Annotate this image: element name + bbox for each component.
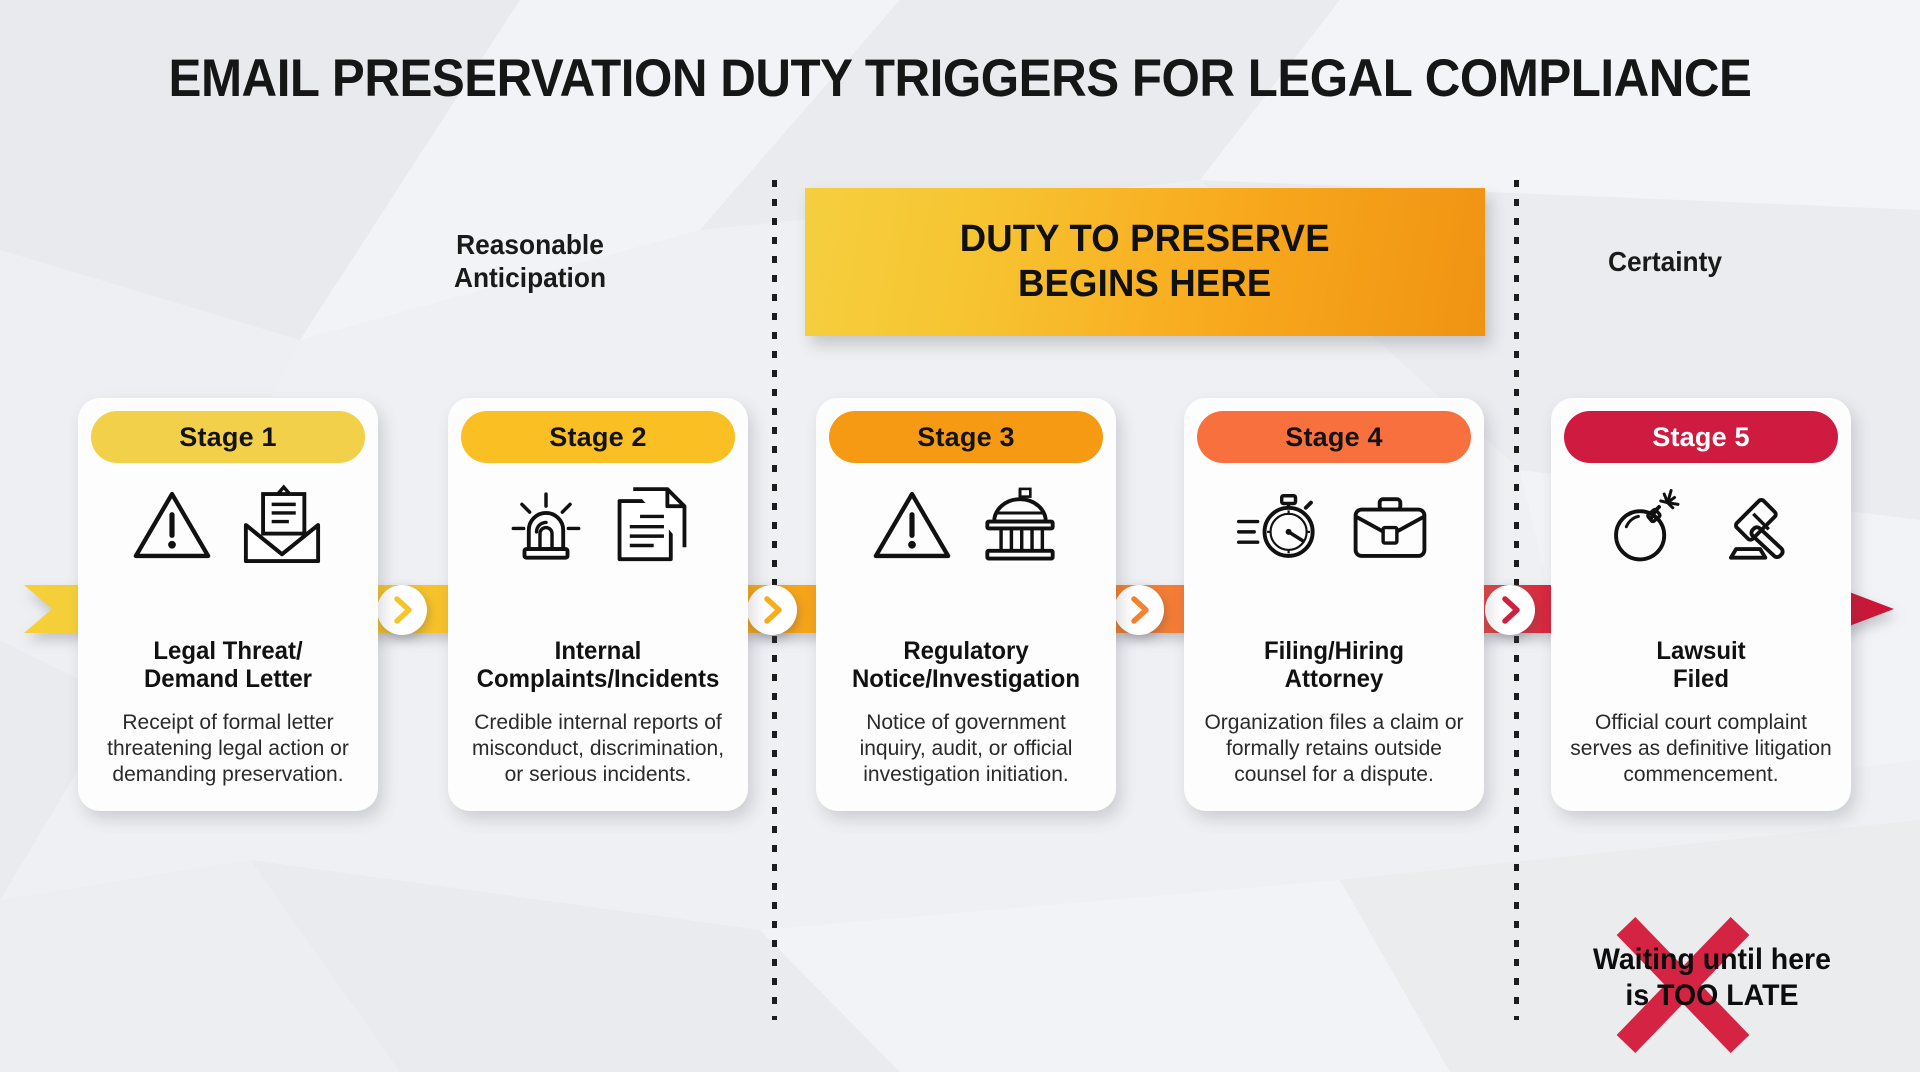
stage-title-4-line1: Filing/Hiring [1202, 637, 1465, 665]
stage-desc-4: Organization files a claim or formally r… [1197, 710, 1471, 789]
stage-title-5-line1: Lawsuit [1569, 637, 1832, 665]
too-late-line2: is TOO LATE [1522, 978, 1902, 1014]
stage-pill-3: Stage 3 [829, 411, 1103, 463]
warning-triangle-icon [869, 482, 955, 568]
stage-pill-4: Stage 4 [1197, 411, 1471, 463]
stage-title-4: Filing/Hiring Attorney [1202, 637, 1465, 694]
stage-title-4-line2: Attorney [1202, 665, 1465, 693]
warning-triangle-icon [129, 482, 215, 568]
stage-pill-5: Stage 5 [1564, 411, 1838, 463]
stage-title-1: Legal Threat/ Demand Letter [96, 637, 359, 694]
chevron-connector-3 [1113, 584, 1165, 636]
zone-label-reasonable-anticipation: Reasonable Anticipation [408, 228, 652, 294]
stage-icons-5 [1564, 469, 1838, 581]
stage-pill-2: Stage 2 [461, 411, 735, 463]
stage-card-1[interactable]: Stage 1 Legal Threat/ Demand Letter [78, 398, 378, 811]
stage-icons-1 [91, 469, 365, 581]
stage-title-5-line2: Filed [1569, 665, 1832, 693]
infographic-canvas: EMAIL PRESERVATION DUTY TRIGGERS FOR LEG… [0, 0, 1920, 1072]
stage-card-5[interactable]: Stage 5 [1551, 398, 1851, 811]
stage-card-3[interactable]: Stage 3 Regulatory [816, 398, 1116, 811]
zone-label-certainty: Certainty [1562, 245, 1769, 278]
stage-icons-3 [829, 469, 1103, 581]
stage-card-2[interactable]: Stage 2 [448, 398, 748, 811]
siren-alarm-icon [503, 482, 589, 568]
stage-desc-1: Receipt of formal letter threatening leg… [91, 710, 365, 789]
stage-card-4[interactable]: Stage 4 [1184, 398, 1484, 811]
stage-desc-2: Credible internal reports of misconduct,… [461, 710, 735, 789]
chevron-connector-1 [376, 584, 428, 636]
too-late-warning: Waiting until here is TOO LATE [1512, 912, 1912, 1062]
stage-title-1-line2: Demand Letter [96, 665, 359, 693]
zone-left-line2: Anticipation [408, 261, 652, 294]
stage-title-2: Internal Complaints/Incidents [466, 637, 729, 694]
stage-title-5: Lawsuit Filed [1569, 637, 1832, 694]
stage-icons-4 [1197, 469, 1471, 581]
duty-banner-line2: BEGINS HERE [960, 262, 1330, 307]
stage-title-2-line2: Complaints/Incidents [466, 665, 729, 693]
government-building-icon [977, 482, 1063, 568]
stage-title-3-line2: Notice/Investigation [834, 665, 1097, 693]
duty-to-preserve-banner: DUTY TO PRESERVE BEGINS HERE [805, 188, 1485, 336]
stage-pill-1: Stage 1 [91, 411, 365, 463]
page-title: EMAIL PRESERVATION DUTY TRIGGERS FOR LEG… [67, 48, 1853, 109]
chevron-connector-4 [1484, 584, 1536, 636]
open-envelope-letter-icon [237, 482, 327, 568]
stopwatch-icon [1235, 482, 1325, 568]
zone-left-line1: Reasonable [408, 228, 652, 261]
stage-title-3: Regulatory Notice/Investigation [834, 637, 1097, 694]
stage-title-3-line1: Regulatory [834, 637, 1097, 665]
too-late-line1: Waiting until here [1522, 942, 1902, 978]
gavel-icon [1712, 482, 1798, 568]
stage-title-2-line1: Internal [466, 637, 729, 665]
duty-banner-line1: DUTY TO PRESERVE [960, 217, 1330, 262]
chevron-connector-2 [746, 584, 798, 636]
briefcase-icon [1347, 482, 1433, 568]
stage-desc-5: Official court complaint serves as defin… [1564, 710, 1838, 789]
stage-desc-3: Notice of government inquiry, audit, or … [829, 710, 1103, 789]
stage-icons-2 [461, 469, 735, 581]
bomb-icon [1604, 482, 1690, 568]
stage-title-1-line1: Legal Threat/ [96, 637, 359, 665]
documents-stack-icon [611, 482, 693, 568]
